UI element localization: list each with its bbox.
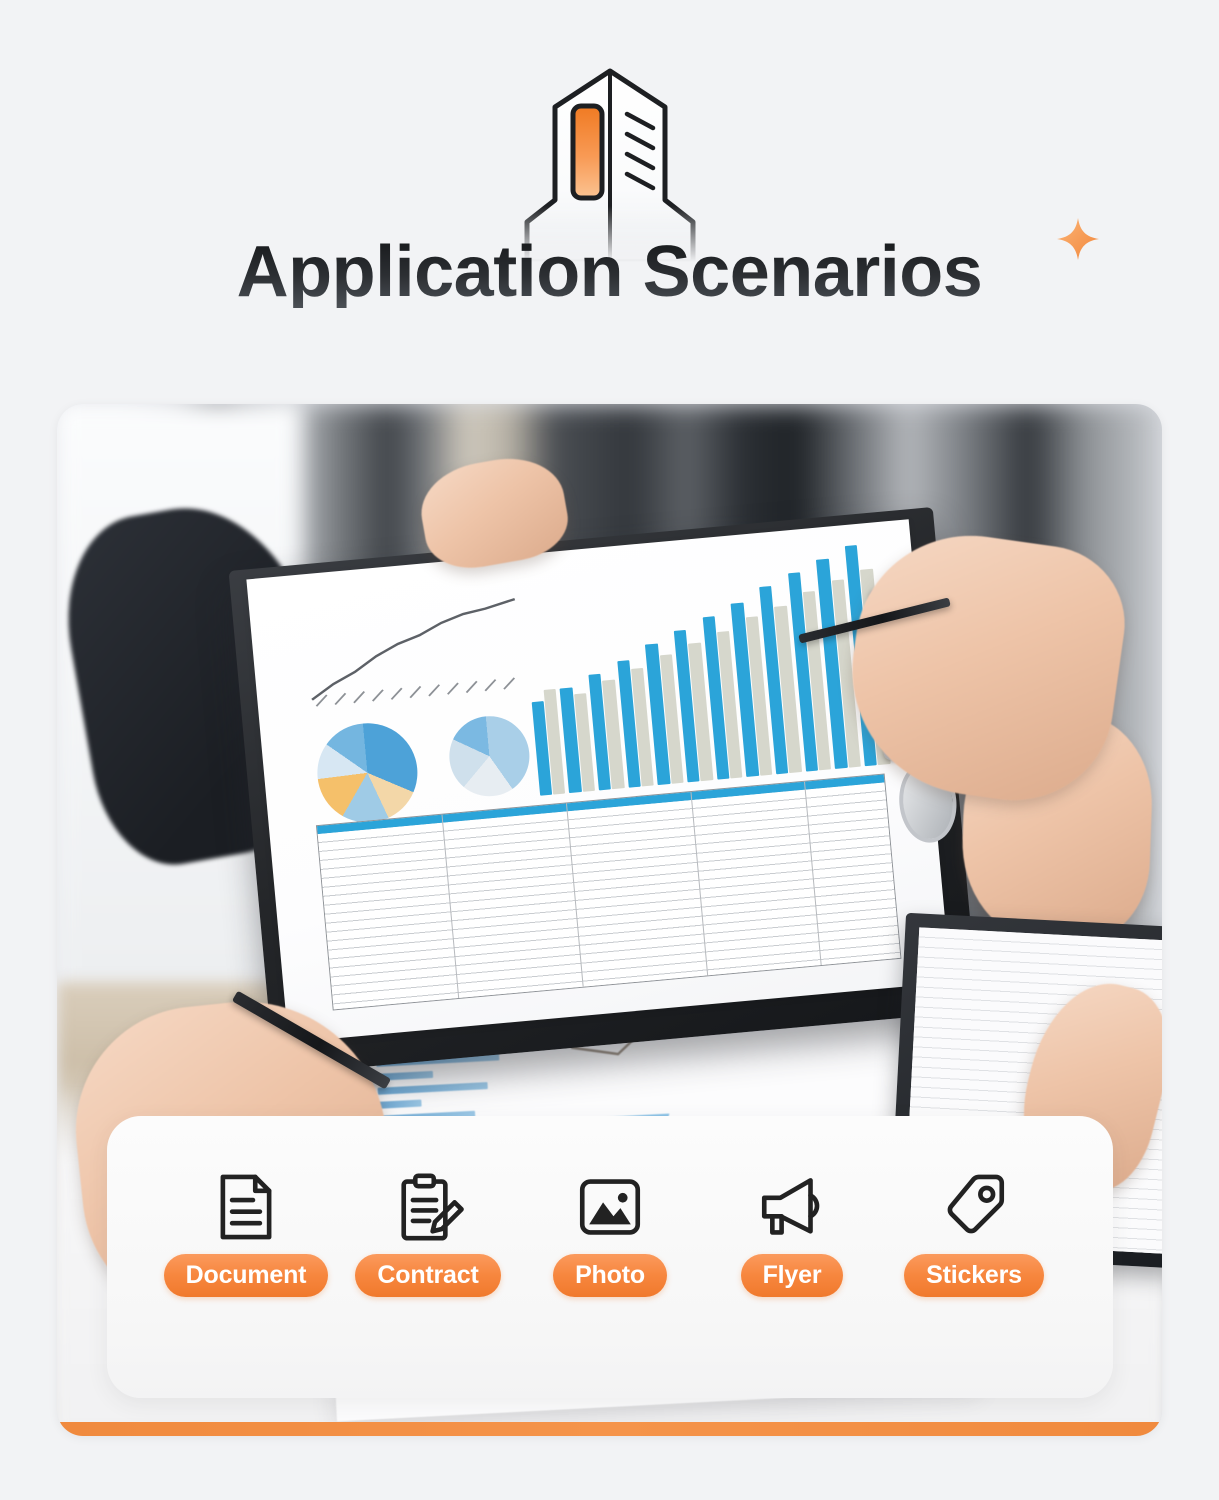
- page-title-row: Application Scenarios: [0, 236, 1219, 308]
- page-pie-chart-2: [446, 713, 533, 800]
- scenario-photo-card: Document Contract: [57, 404, 1162, 1436]
- sparkle-icon: [1055, 216, 1101, 262]
- feature-photo[interactable]: Photo: [519, 1170, 701, 1297]
- feature-tags-panel: Document Contract: [107, 1116, 1113, 1398]
- feature-label-photo: Photo: [553, 1254, 667, 1297]
- feature-contract[interactable]: Contract: [337, 1170, 519, 1297]
- clipboard-pencil-icon: [391, 1170, 465, 1244]
- page-pie-chart-1: [314, 719, 422, 827]
- page-title: Application Scenarios: [237, 236, 983, 308]
- page-bar-chart: [520, 542, 891, 796]
- price-tag-icon: [937, 1170, 1011, 1244]
- image-icon: [573, 1170, 647, 1244]
- feature-label-contract: Contract: [355, 1254, 500, 1297]
- clipboard-document: [229, 507, 979, 1075]
- feature-label-document: Document: [164, 1254, 329, 1297]
- feature-flyer[interactable]: Flyer: [701, 1170, 883, 1297]
- page-line-chart: [296, 592, 530, 714]
- feature-document[interactable]: Document: [155, 1170, 337, 1297]
- feature-stickers[interactable]: Stickers: [883, 1170, 1065, 1297]
- document-icon: [209, 1170, 283, 1244]
- megaphone-icon: [755, 1170, 829, 1244]
- page-data-table: [316, 774, 902, 1011]
- feature-label-stickers: Stickers: [904, 1254, 1044, 1297]
- clipboard-page: [247, 520, 951, 1044]
- feature-label-flyer: Flyer: [741, 1254, 844, 1297]
- header-section: Application Scenarios: [0, 0, 1219, 392]
